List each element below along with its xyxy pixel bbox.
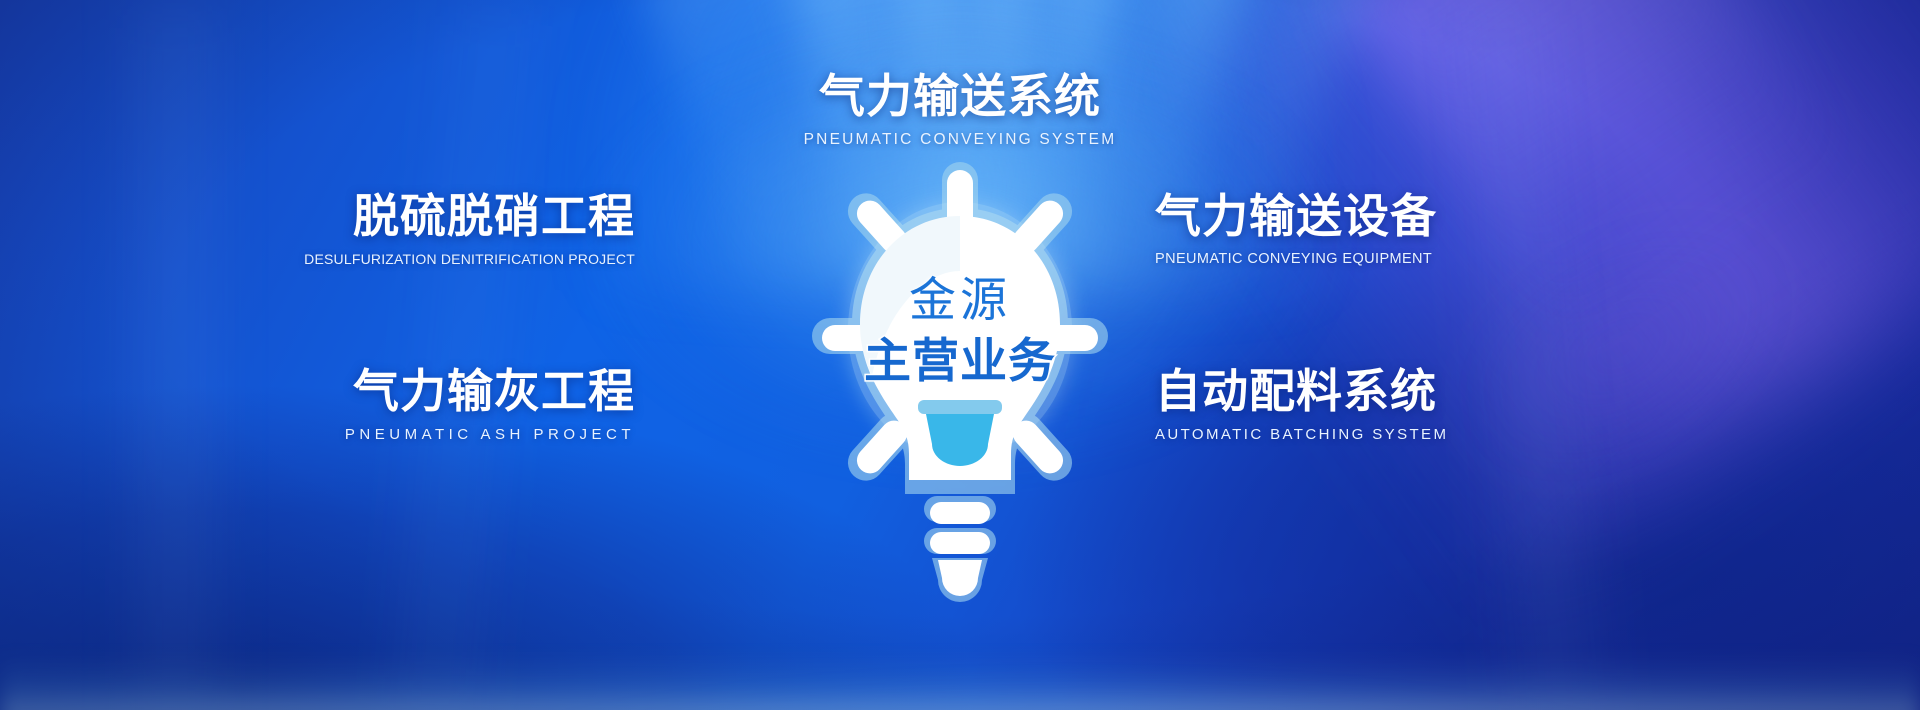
service-label-pneumatic-ash-project[interactable]: 气力输灰工程 PNEUMATIC ASH PROJECT xyxy=(345,367,635,444)
service-title-en: AUTOMATIC BATCHING SYSTEM xyxy=(1155,426,1448,444)
service-label-pneumatic-conveying-equipment[interactable]: 气力输送设备 PNEUMATIC CONVEYING EQUIPMENT xyxy=(1155,192,1437,269)
service-title-cn: 气力输灰工程 xyxy=(345,367,635,415)
service-title-en: PNEUMATIC CONVEYING EQUIPMENT xyxy=(1155,251,1437,268)
service-label-desulfurization-denitrification-project[interactable]: 脱硫脱硝工程 DESULFURIZATION DENITRIFICATION P… xyxy=(304,192,635,268)
service-title-cn: 气力输送设备 xyxy=(1155,192,1437,240)
service-title-en: PNEUMATIC ASH PROJECT xyxy=(345,426,635,444)
service-title-en: PNEUMATIC CONVEYING SYSTEM xyxy=(0,131,1920,150)
service-title-cn: 自动配料系统 xyxy=(1155,367,1448,415)
banner-stage: 金源 主营业务 气力输送系统 PNEUMATIC CONVEYING SYSTE… xyxy=(0,0,1920,710)
service-label-pneumatic-conveying-system[interactable]: 气力输送系统 PNEUMATIC CONVEYING SYSTEM xyxy=(0,72,1920,150)
service-title-cn: 气力输送系统 xyxy=(0,72,1920,120)
service-label-automatic-batching-system[interactable]: 自动配料系统 AUTOMATIC BATCHING SYSTEM xyxy=(1155,367,1448,444)
service-title-cn: 脱硫脱硝工程 xyxy=(304,192,635,240)
service-title-en: DESULFURIZATION DENITRIFICATION PROJECT xyxy=(304,251,635,268)
